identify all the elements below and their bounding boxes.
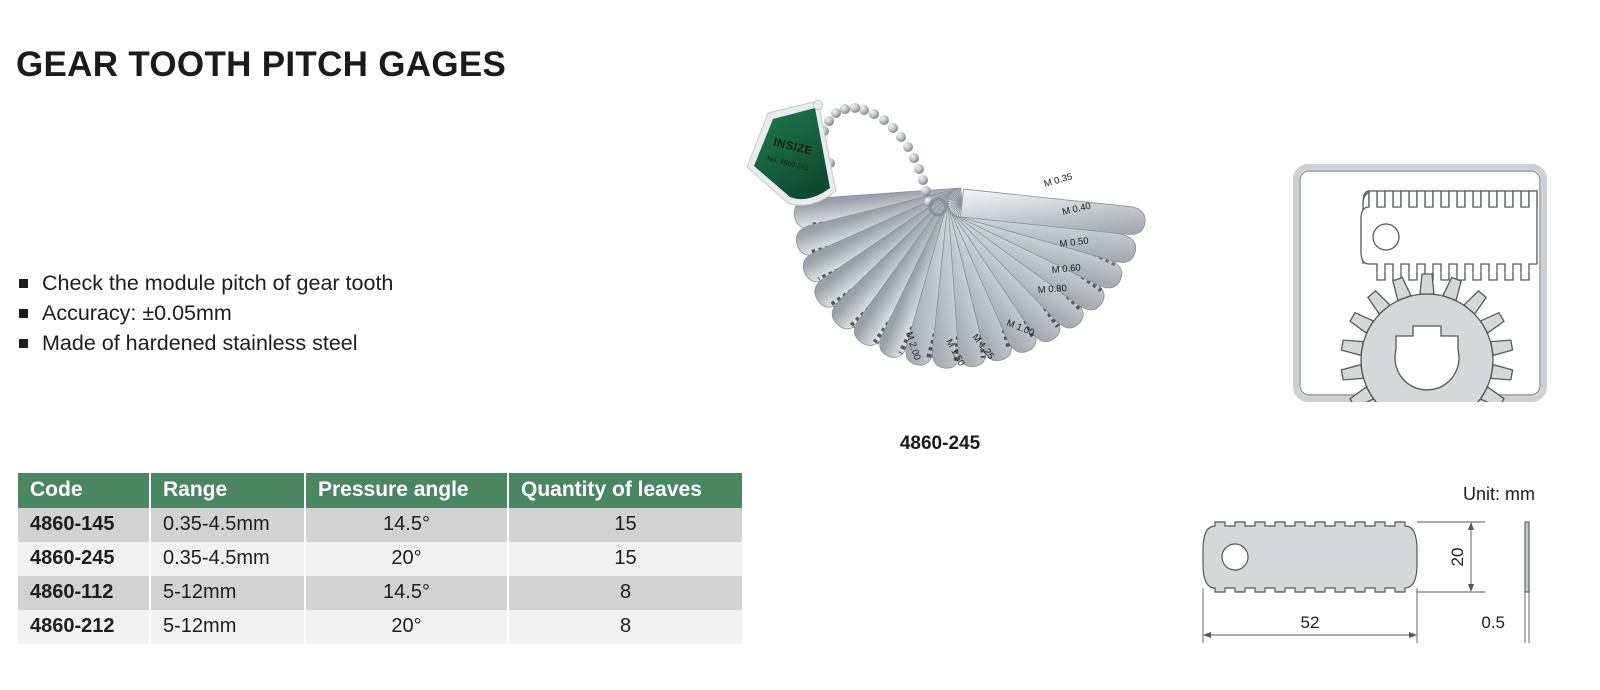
feature-text: Check the module pitch of gear tooth: [42, 271, 393, 295]
bullet-square-icon: [19, 279, 28, 288]
cell-pressure-angle: 20°: [305, 542, 508, 576]
cell-code: 4860-212: [18, 610, 150, 644]
leaf-label: M 0.80: [1037, 283, 1067, 296]
leaf-hole: [1222, 544, 1248, 570]
dimension-thickness: [1525, 592, 1529, 643]
cell-code: 4860-245: [18, 542, 150, 576]
cell-pressure-angle: 14.5°: [305, 508, 508, 542]
cell-range: 0.35-4.5mm: [150, 508, 305, 542]
application-illustration-gear-meshing: [1293, 164, 1547, 402]
cell-code: 4860-112: [18, 576, 150, 610]
product-model-caption: 4860-245: [700, 433, 1180, 455]
table-row: 4860-245 0.35-4.5mm 20° 15: [18, 542, 742, 576]
table-header-row: Code Range Pressure angle Quantity of le…: [18, 473, 742, 508]
table-row: 4860-212 5-12mm 20° 8: [18, 610, 742, 644]
dimension-height-label: 20: [1448, 548, 1467, 567]
feature-text: Made of hardened stainless steel: [42, 331, 358, 355]
page-title: GEAR TOOTH PITCH GAGES: [16, 45, 506, 85]
dimension-thickness-label: 0.5: [1481, 613, 1505, 632]
leaf-label: M 0.35: [1043, 171, 1074, 190]
leaf-mounting-hole: [1373, 224, 1399, 250]
cell-range: 5-12mm: [150, 576, 305, 610]
leaf-fan: [793, 188, 1146, 370]
gear-keyed-bore: [1395, 326, 1459, 390]
bullet-square-icon: [19, 339, 28, 348]
table-row: 4860-112 5-12mm 14.5° 8: [18, 576, 742, 610]
cell-quantity: 15: [508, 508, 742, 542]
column-header-pressure-angle: Pressure angle: [305, 473, 508, 508]
leaf-front-view: [1203, 522, 1417, 592]
feature-text: Accuracy: ±0.05mm: [42, 301, 232, 325]
product-photo-gear-pitch-gage-set: M 0.35 M 0.40 M 0.50 M 0.60 M 0.80 M 1.0…: [700, 75, 1180, 405]
brand-tag: INSIZE No. 4860-245: [747, 101, 836, 206]
dimension-width-label: 52: [1301, 613, 1320, 632]
bullet-square-icon: [19, 309, 28, 318]
leaf-side-view: [1525, 522, 1529, 592]
cell-pressure-angle: 14.5°: [305, 576, 508, 610]
cell-code: 4860-145: [18, 508, 150, 542]
dimension-drawing: 20 52 0.5: [1195, 478, 1595, 653]
list-item: Check the module pitch of gear tooth: [16, 268, 393, 298]
cell-pressure-angle: 20°: [305, 610, 508, 644]
cell-quantity: 8: [508, 576, 742, 610]
table-row: 4860-145 0.35-4.5mm 14.5° 15: [18, 508, 742, 542]
cell-quantity: 15: [508, 542, 742, 576]
cell-range: 5-12mm: [150, 610, 305, 644]
column-header-code: Code: [18, 473, 150, 508]
cell-quantity: 8: [508, 610, 742, 644]
cell-range: 0.35-4.5mm: [150, 542, 305, 576]
spec-table: Code Range Pressure angle Quantity of le…: [18, 473, 742, 644]
product-photo-block: M 0.35 M 0.40 M 0.50 M 0.60 M 0.80 M 1.0…: [700, 75, 1180, 465]
list-item: Made of hardened stainless steel: [16, 328, 393, 358]
column-header-range: Range: [150, 473, 305, 508]
list-item: Accuracy: ±0.05mm: [16, 298, 393, 328]
feature-list: Check the module pitch of gear tooth Acc…: [16, 268, 393, 358]
column-header-quantity: Quantity of leaves: [508, 473, 742, 508]
